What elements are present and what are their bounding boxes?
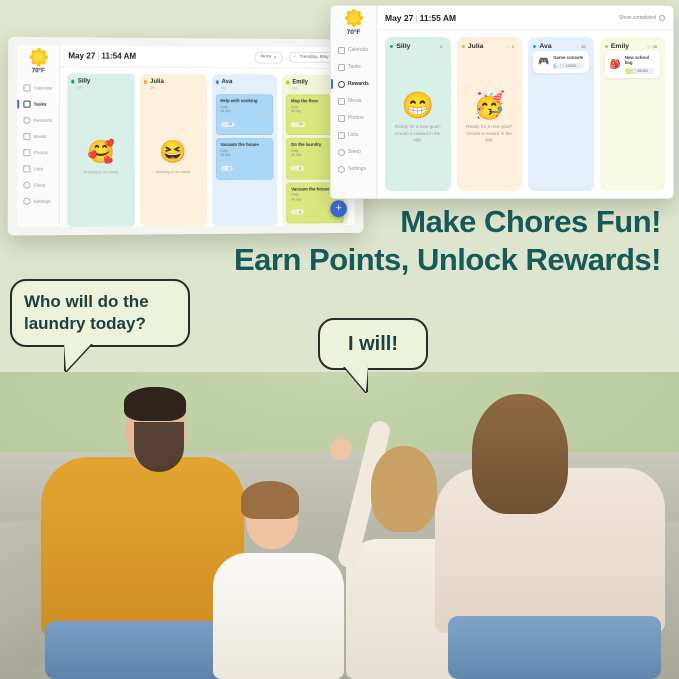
sun-icon	[347, 11, 361, 25]
tasks-sidebar-item-sleep[interactable]: Sleep	[17, 177, 59, 192]
reward-column-julia: Julia0🥳Ready for a new goal?Create a rew…	[457, 37, 523, 191]
add-task-button[interactable]: +	[330, 200, 347, 217]
tasks-icon	[23, 101, 30, 108]
rewards-sidebar-item-lists[interactable]: Lists	[331, 127, 376, 143]
tasks-sidebar-item-label: Sleep	[33, 183, 45, 188]
rewards-nav: CalendarTasksRewardsMealsPhotosListsSlee…	[331, 42, 376, 177]
task-time: All day	[220, 109, 268, 113]
rewards-date-time: May 27|11:55 AM	[385, 13, 456, 23]
rewards-sidebar-item-tasks[interactable]: Tasks	[331, 59, 376, 75]
tasks-sidebar-item-label: Rewards	[34, 118, 53, 123]
rewards-sidebar-item-settings[interactable]: Settings	[331, 161, 376, 177]
tasks-main: May 27|11:54 AM More ▾ ‹ Tuesday, May 27…	[60, 45, 355, 227]
rewards-sidebar-item-label: Tasks	[348, 64, 361, 70]
reward-column-name: Julia	[468, 43, 484, 50]
status-dot	[390, 45, 393, 48]
task-complete-checkbox[interactable]	[263, 112, 269, 118]
task-card[interactable]: CookingDailyAll day5	[287, 226, 345, 227]
coin-icon	[632, 69, 636, 73]
rewards-date-separator: |	[415, 13, 417, 23]
coin-icon	[294, 122, 298, 126]
tasks-sidebar-item-photos[interactable]: Photos	[17, 145, 59, 160]
rewards-sidebar-item-label: Settings	[348, 166, 366, 172]
sleep-icon	[338, 149, 345, 156]
task-column-header: Ava	[215, 79, 273, 85]
task-points: 10	[291, 122, 305, 127]
status-dot	[462, 45, 465, 48]
prev-day-icon[interactable]: ‹	[294, 55, 296, 60]
task-title: Vacuum the house	[220, 142, 268, 147]
meals-icon	[338, 98, 345, 105]
task-column-name: Silly	[78, 79, 91, 85]
lists-icon	[338, 132, 345, 139]
coin-icon	[647, 45, 651, 49]
reward-column-name: Emily	[611, 43, 629, 50]
family-photo	[0, 372, 679, 679]
rewards-sidebar-item-label: Sleep	[348, 149, 361, 155]
chevron-down-icon: ▾	[274, 54, 276, 60]
task-column-name: Ava	[222, 79, 233, 85]
promo-image: Make Chores Fun! Earn Points, Unlock Rew…	[0, 0, 679, 679]
rewards-sidebar: 70°F CalendarTasksRewardsMealsPhotosList…	[331, 6, 377, 198]
tasks-sidebar-item-label: Photos	[34, 150, 49, 155]
speech-bubble-tail	[64, 343, 92, 371]
tasks-sidebar-item-label: Calendar	[34, 85, 53, 90]
reward-column-name: Ava	[539, 43, 551, 50]
task-complete-checkbox[interactable]	[263, 156, 269, 162]
tasks-sidebar-item-label: Tasks	[34, 102, 47, 107]
status-dot	[71, 80, 74, 83]
tasks-temperature: 70°F	[32, 68, 45, 74]
tablet-rewards-screen: 70°F CalendarTasksRewardsMealsPhotosList…	[330, 5, 674, 199]
reward-column-name: Silly	[396, 43, 410, 50]
speech-bubble-answer-text: I will!	[348, 333, 398, 355]
photos-icon	[23, 149, 30, 156]
empty-state-text: Nothing to do today	[156, 169, 191, 175]
task-card[interactable]: Help with cookingDailyAll day10	[215, 94, 273, 135]
tasks-weather-widget: 70°F	[31, 50, 45, 74]
rewards-sidebar-item-label: Photos	[348, 115, 364, 121]
task-empty-state: 🥰Nothing to do today	[71, 94, 131, 222]
tasks-sidebar-item-tasks[interactable]: Tasks	[17, 97, 59, 112]
rewards-sidebar-item-calendar[interactable]: Calendar	[331, 42, 376, 58]
task-column-julia: Julia0/0😆Nothing to do today	[140, 74, 207, 227]
sun-icon	[31, 50, 45, 64]
task-points: 5	[291, 166, 303, 171]
rewards-sidebar-item-label: Meals	[348, 98, 361, 104]
rewards-board: Silly0😁Ready for a new goal?Create a rew…	[377, 30, 673, 198]
reward-title: New school bag	[625, 55, 655, 65]
empty-state-text: Ready for a new goal?Create a reward in …	[462, 124, 518, 144]
coin-icon	[294, 210, 298, 214]
empty-state-text: Nothing to do today	[83, 169, 118, 175]
more-label: More	[261, 55, 272, 60]
reward-card[interactable]: 🎮Game console10/100	[533, 51, 589, 73]
reward-progress-label: 25/100	[632, 69, 648, 73]
reward-icon: 🎮	[538, 57, 549, 66]
more-button[interactable]: More ▾	[255, 51, 283, 63]
tasks-nav: CalendarTasksRewardsMealsPhotosListsSlee…	[17, 80, 59, 209]
tasks-sidebar-item-rewards[interactable]: Rewards	[17, 113, 59, 128]
rewards-sidebar-item-rewards[interactable]: Rewards	[331, 76, 376, 92]
rewards-temperature: 70°F	[347, 29, 361, 36]
reward-column-emily: Emily25🎒New school bag25/100	[600, 37, 666, 191]
person-toddler	[204, 489, 353, 679]
show-completed-toggle[interactable]: Show completed	[619, 15, 665, 21]
coin-icon	[576, 45, 580, 49]
reward-column-header: Ava10	[533, 43, 589, 50]
tasks-sidebar-item-lists[interactable]: Lists	[17, 161, 59, 176]
reward-icon: 🎒	[610, 60, 621, 69]
task-title: Help with cooking	[220, 98, 268, 103]
tasks-sidebar: 70°F CalendarTasksRewardsMealsPhotosList…	[17, 45, 60, 227]
reward-empty-state: 😁Ready for a new goal?Create a reward in…	[390, 51, 446, 185]
status-dot	[215, 80, 218, 83]
rewards-sidebar-item-label: Calendar	[348, 47, 368, 53]
task-time: All day	[220, 153, 268, 157]
tasks-date-separator: |	[97, 52, 99, 61]
task-empty-state: 😆Nothing to do today	[144, 94, 203, 222]
rewards-date: May 27	[385, 13, 413, 23]
tasks-board: Silly0/0🥰Nothing to do todayJulia0/0😆Not…	[60, 67, 355, 227]
tasks-icon	[338, 64, 345, 71]
tablet-tasks-screen: 70°F CalendarTasksRewardsMealsPhotosList…	[8, 37, 364, 236]
tasks-time: 11:54 AM	[101, 52, 136, 61]
reward-points-badge: 0	[432, 43, 446, 50]
rewards-sidebar-item-photos[interactable]: Photos	[331, 110, 376, 126]
coin-icon	[560, 64, 564, 68]
speech-bubble-question-text: Who will do the laundry today?	[24, 292, 149, 333]
rewards-sidebar-item-label: Rewards	[348, 81, 369, 87]
tasks-sidebar-item-label: Lists	[33, 166, 43, 171]
rewards-weather-widget: 70°F	[347, 11, 361, 36]
task-column-name: Emily	[292, 80, 308, 86]
settings-icon	[338, 166, 345, 173]
meals-icon	[23, 133, 30, 140]
task-column-silly: Silly0/0🥰Nothing to do today	[67, 74, 135, 227]
show-completed-label: Show completed	[619, 15, 656, 21]
reward-column-silly: Silly0😁Ready for a new goal?Create a rew…	[385, 37, 451, 191]
reward-title: Game console	[553, 55, 583, 60]
sleep-icon	[23, 182, 30, 189]
reward-progress-label: 10/100	[560, 64, 576, 68]
reward-card[interactable]: 🎒New school bag25/100	[605, 51, 661, 78]
reward-empty-state: 🥳Ready for a new goal?Create a reward in…	[462, 51, 518, 185]
lists-icon	[23, 165, 30, 172]
task-points: 5	[220, 166, 232, 171]
coin-icon	[506, 45, 510, 49]
rewards-header: May 27|11:55 AM Show completed	[377, 6, 673, 30]
headline-line-2: Earn Points, Unlock Rewards!	[205, 241, 661, 279]
coin-icon	[223, 122, 227, 126]
tasks-sidebar-item-calendar[interactable]: Calendar	[17, 80, 59, 95]
rewards-sidebar-item-label: Lists	[348, 132, 358, 138]
task-points: 10	[220, 122, 234, 127]
reward-column-ava: Ava10🎮Game console10/100	[528, 37, 594, 191]
task-column-ava: Ava0/2Help with cookingDailyAll day10Vac…	[211, 74, 277, 226]
tasks-header: May 27|11:54 AM More ▾ ‹ Tuesday, May 27…	[60, 45, 354, 69]
status-dot	[533, 45, 536, 48]
tasks-date-time: May 27|11:54 AM	[68, 51, 136, 60]
coin-icon	[435, 45, 439, 49]
rewards-time: 11:55 AM	[420, 13, 457, 23]
tasks-sidebar-item-meals[interactable]: Meals	[17, 129, 59, 144]
person-mother	[435, 394, 666, 679]
speech-bubble-answer: I will!	[318, 318, 428, 370]
reward-progress-fill	[553, 63, 556, 69]
rewards-icon	[23, 117, 30, 124]
status-dot	[605, 45, 608, 48]
reward-points-badge: 25	[644, 43, 660, 50]
coin-icon	[294, 166, 298, 170]
photos-icon	[338, 115, 345, 122]
rewards-sidebar-item-sleep[interactable]: Sleep	[331, 144, 376, 160]
task-column-header: Julia	[144, 79, 203, 85]
rewards-main: May 27|11:55 AM Show completed Silly0😁Re…	[377, 6, 673, 198]
empty-state-emoji: 😁	[402, 92, 434, 118]
reward-column-header: Julia0	[462, 43, 518, 50]
task-card[interactable]: Vacuum the houseDailyAll day5	[215, 138, 273, 179]
camera-dot	[340, 220, 343, 223]
reward-progress-bar: 10/100	[553, 63, 583, 69]
reward-column-header: Emily25	[605, 43, 661, 50]
empty-state-emoji: 🥰	[87, 141, 115, 163]
reward-points-badge: 0	[503, 43, 517, 50]
speech-bubble-question: Who will do the laundry today?	[10, 279, 190, 347]
tasks-sidebar-item-settings[interactable]: Settings	[17, 194, 59, 209]
task-column-progress: 0/0	[77, 86, 130, 90]
empty-state-text: Ready for a new goal?Create a reward in …	[390, 124, 446, 144]
task-points: 5	[291, 210, 303, 215]
rewards-sidebar-item-meals[interactable]: Meals	[331, 93, 376, 109]
tasks-sidebar-item-label: Settings	[33, 199, 50, 204]
speech-bubble-tail	[344, 366, 368, 392]
empty-state-emoji: 😆	[159, 141, 186, 163]
calendar-icon	[23, 84, 30, 91]
tasks-date: May 27	[68, 51, 95, 60]
reward-column-header: Silly0	[390, 43, 446, 50]
status-dot	[286, 81, 289, 84]
task-column-progress: 0/2	[221, 86, 273, 90]
settings-icon	[23, 198, 30, 205]
task-column-header: Silly	[71, 79, 130, 85]
coin-icon	[223, 167, 227, 171]
empty-state-emoji: 🥳	[473, 92, 505, 118]
task-column-name: Julia	[150, 79, 164, 85]
calendar-icon	[338, 47, 345, 54]
task-column-progress: 0/0	[150, 86, 203, 90]
reward-progress-bar: 25/100	[625, 68, 655, 74]
reward-points-badge: 10	[573, 43, 589, 50]
rewards-icon	[338, 81, 345, 88]
status-dot	[144, 80, 147, 83]
eye-icon	[659, 15, 665, 21]
tasks-sidebar-item-label: Meals	[34, 134, 47, 139]
